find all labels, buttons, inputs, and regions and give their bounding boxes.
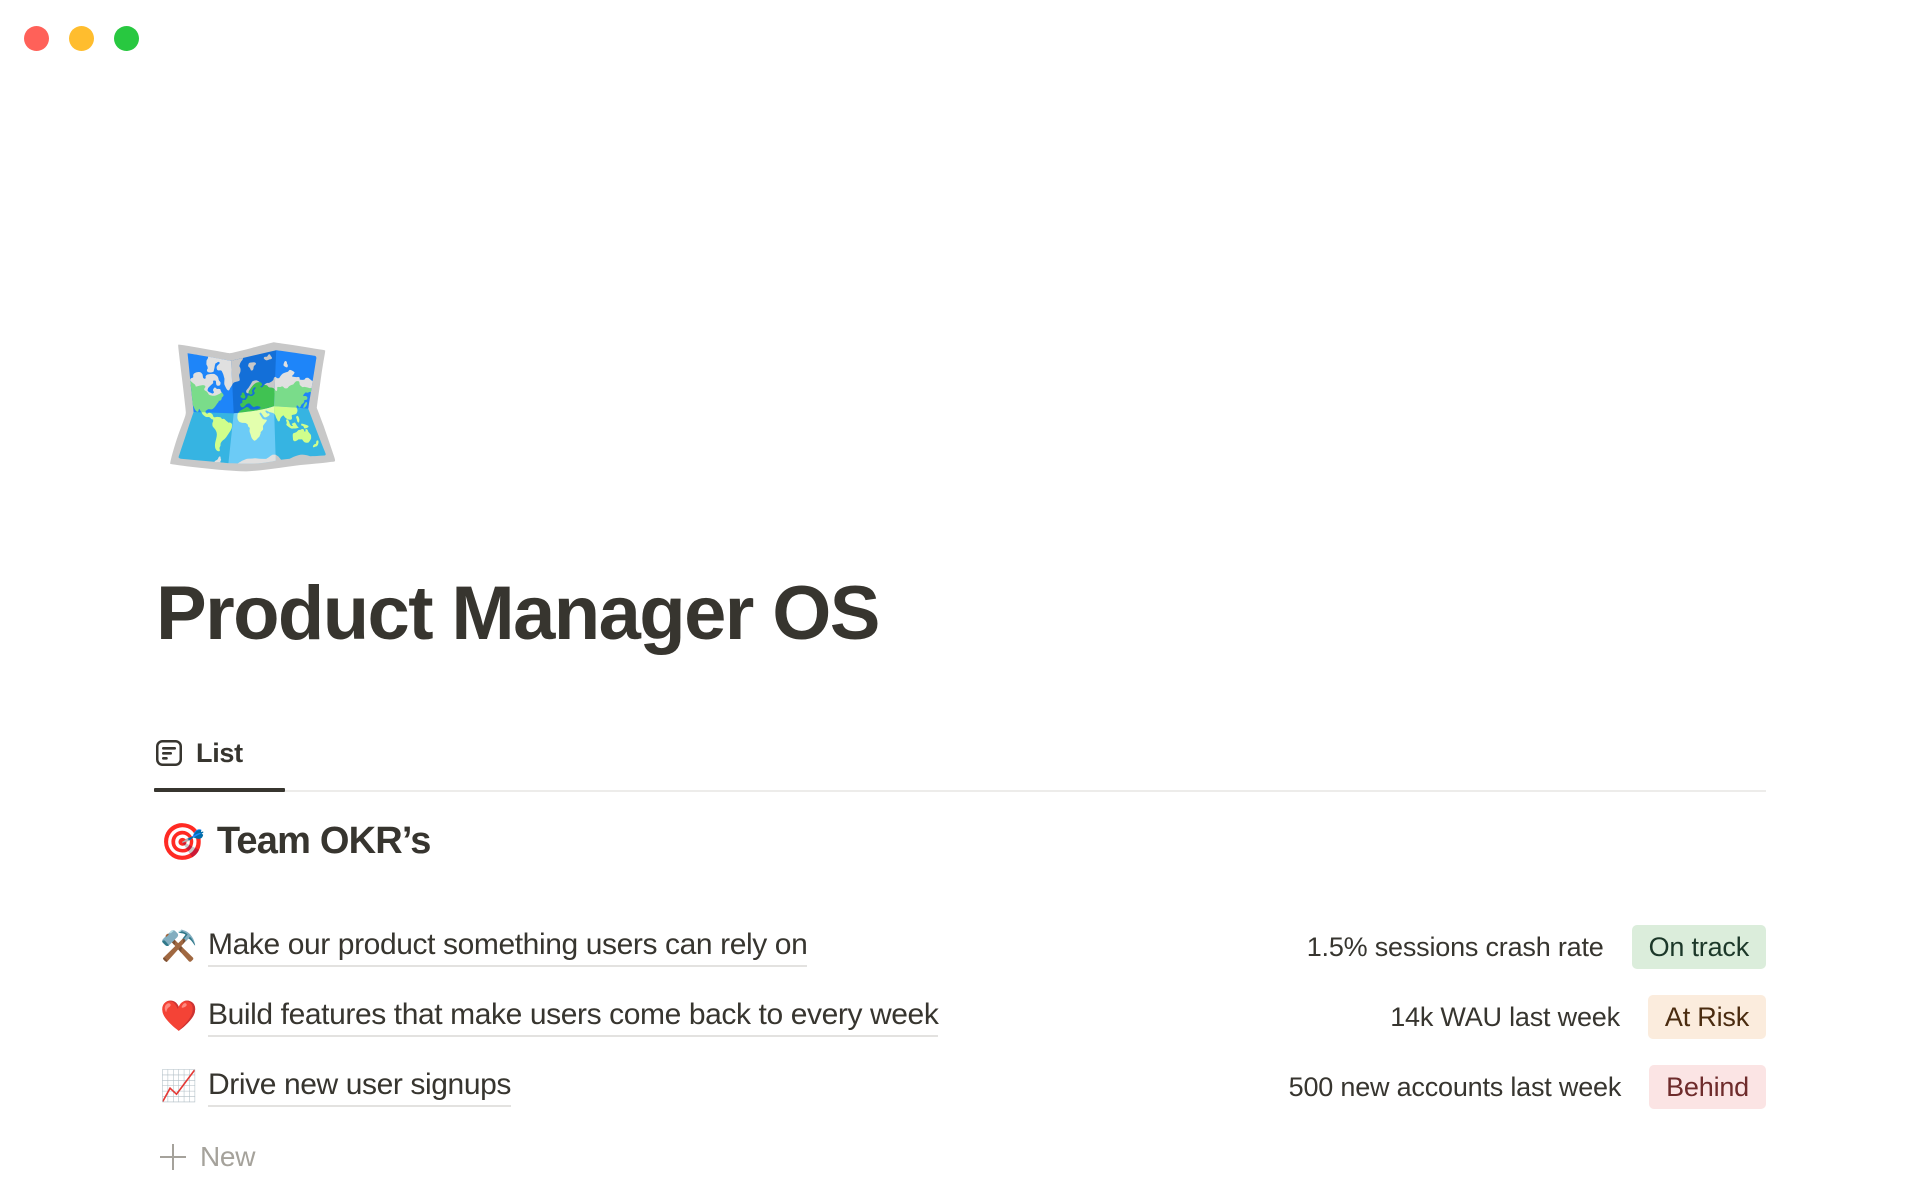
page-title[interactable]: Product Manager OS <box>156 572 879 656</box>
window-chrome <box>0 0 1920 72</box>
add-new-row-button[interactable]: New <box>160 1134 255 1180</box>
list-item-title[interactable]: Make our product something users can rel… <box>208 928 807 967</box>
tab-list-label: List <box>196 738 243 769</box>
traffic-lights <box>24 26 139 51</box>
add-new-row-label: New <box>200 1141 255 1173</box>
list-item-meta: 14k WAU last week At Risk <box>1390 995 1766 1039</box>
list-item[interactable]: ⚒️ Make our product something users can … <box>160 912 1766 982</box>
status-badge[interactable]: At Risk <box>1648 995 1766 1039</box>
list-item-meta: 1.5% sessions crash rate On track <box>1307 925 1766 969</box>
close-window-button[interactable] <box>24 26 49 51</box>
tab-bar-divider <box>154 790 1766 792</box>
red-heart-emoji: ❤️ <box>160 1002 196 1032</box>
list-item[interactable]: ❤️ Build features that make users come b… <box>160 982 1766 1052</box>
okr-list: ⚒️ Make our product something users can … <box>160 912 1766 1122</box>
list-item-metric: 1.5% sessions crash rate <box>1307 932 1604 963</box>
list-item-title[interactable]: Build features that make users come back… <box>208 998 938 1037</box>
status-badge[interactable]: Behind <box>1649 1065 1766 1109</box>
list-item-meta: 500 new accounts last week Behind <box>1289 1065 1766 1109</box>
status-badge[interactable]: On track <box>1632 925 1766 969</box>
maximize-window-button[interactable] <box>114 26 139 51</box>
section-title[interactable]: Team OKR’s <box>217 820 431 863</box>
list-item-metric: 500 new accounts last week <box>1289 1072 1622 1103</box>
list-item-metric: 14k WAU last week <box>1390 1002 1620 1033</box>
list-item-main: ❤️ Build features that make users come b… <box>160 998 938 1037</box>
plus-icon <box>160 1144 186 1170</box>
tab-list[interactable]: List <box>154 728 249 792</box>
tab-active-indicator <box>154 788 285 792</box>
minimize-window-button[interactable] <box>69 26 94 51</box>
section-heading-team-okrs: 🎯 Team OKR’s <box>160 820 431 863</box>
list-item[interactable]: 📈 Drive new user signups 500 new account… <box>160 1052 1766 1122</box>
page-root: 🗺️ Product Manager OS List 🎯 Team OKR’s <box>0 0 1920 1200</box>
hammer-and-pick-emoji: ⚒️ <box>160 932 196 962</box>
list-item-main: 📈 Drive new user signups <box>160 1068 511 1107</box>
world-map-emoji[interactable]: 🗺️ <box>159 318 335 494</box>
view-tab-bar: List <box>154 728 1766 792</box>
list-item-main: ⚒️ Make our product something users can … <box>160 928 807 967</box>
list-view-icon <box>154 738 184 768</box>
direct-hit-emoji: 🎯 <box>160 824 205 860</box>
list-item-title[interactable]: Drive new user signups <box>208 1068 511 1107</box>
chart-increasing-emoji: 📈 <box>160 1072 196 1102</box>
